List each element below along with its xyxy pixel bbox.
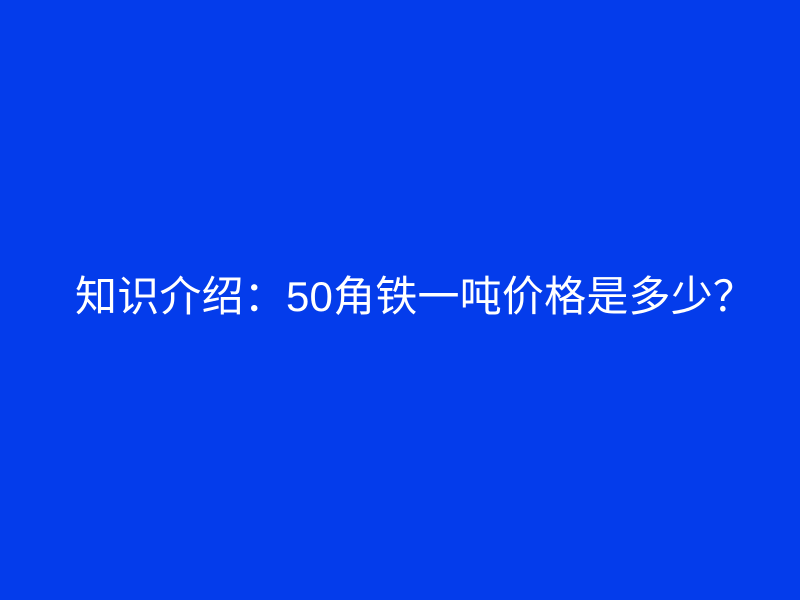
headline-title: 知识介绍：50角铁一吨价格是多少？ [75,273,755,322]
headline-container: 知识介绍：50角铁一吨价格是多少？ [0,0,800,600]
banner-canvas: 知识介绍：50角铁一吨价格是多少？ [0,0,800,600]
